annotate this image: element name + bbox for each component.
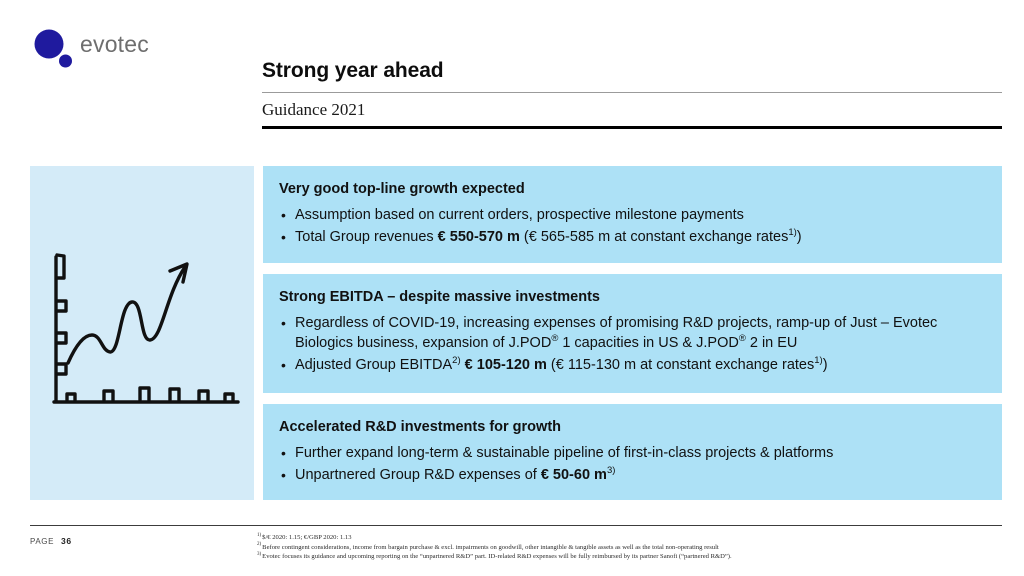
page-subtitle: Guidance 2021 [262, 93, 1002, 126]
block-heading: Strong EBITDA – despite massive investme… [279, 288, 986, 306]
bullet-list: Regardless of COVID-19, increasing expen… [279, 313, 986, 375]
brand-name: evotec [80, 31, 149, 58]
page-label: PAGE [30, 537, 54, 546]
block-heading: Accelerated R&D investments for growth [279, 418, 986, 436]
content-block-strong-ebitda: Strong EBITDA – despite massive investme… [263, 274, 1002, 393]
footnote-item: 1)$/€ 2020: 1.15; €/GBP 2020: 1.13 [257, 533, 1002, 543]
bullet-item: Assumption based on current orders, pros… [279, 205, 986, 225]
content-block-accelerated-rd: Accelerated R&D investments for growth F… [263, 404, 1002, 500]
footnote-text: Before contingent considerations, income… [262, 544, 719, 551]
slide-header: Strong year ahead Guidance 2021 [262, 58, 1002, 129]
footnote-text: $/€ 2020: 1.15; €/GBP 2020: 1.13 [262, 534, 351, 541]
content-block-top-line-growth: Very good top-line growth expected Assum… [263, 166, 1002, 263]
page-number: 36 [61, 536, 72, 546]
bullet-item: Total Group revenues € 550-570 m (€ 565-… [279, 227, 986, 247]
footnotes: 1)$/€ 2020: 1.15; €/GBP 2020: 1.13 2)Bef… [257, 533, 1002, 562]
bullet-list: Further expand long-term & sustainable p… [279, 443, 986, 485]
footnote-marker: 2) [257, 542, 261, 547]
block-heading: Very good top-line growth expected [279, 180, 986, 198]
bullet-item: Regardless of COVID-19, increasing expen… [279, 313, 986, 353]
bullet-item: Further expand long-term & sustainable p… [279, 443, 986, 463]
growth-chart-sketch-icon [42, 251, 246, 421]
footnote-marker: 3) [257, 552, 261, 557]
illustration-panel [30, 166, 254, 500]
bullet-item: Unpartnered Group R&D expenses of € 50-6… [279, 465, 986, 485]
footnote-text: Evotec focuses its guidance and upcoming… [262, 553, 731, 560]
bullet-list: Assumption based on current orders, pros… [279, 205, 986, 247]
header-divider-thick [262, 126, 1002, 129]
brand-logo: evotec [30, 26, 230, 70]
footnote-marker: 1) [257, 533, 261, 538]
bullet-item: Adjusted Group EBITDA2) € 105-120 m (€ 1… [279, 355, 986, 375]
footnote-item: 3)Evotec focuses its guidance and upcomi… [257, 552, 1002, 562]
footnote-item: 2)Before contingent considerations, inco… [257, 543, 1002, 553]
page-marker: PAGE36 [30, 536, 72, 546]
page-title: Strong year ahead [262, 58, 1002, 84]
footer-divider [30, 525, 1002, 526]
